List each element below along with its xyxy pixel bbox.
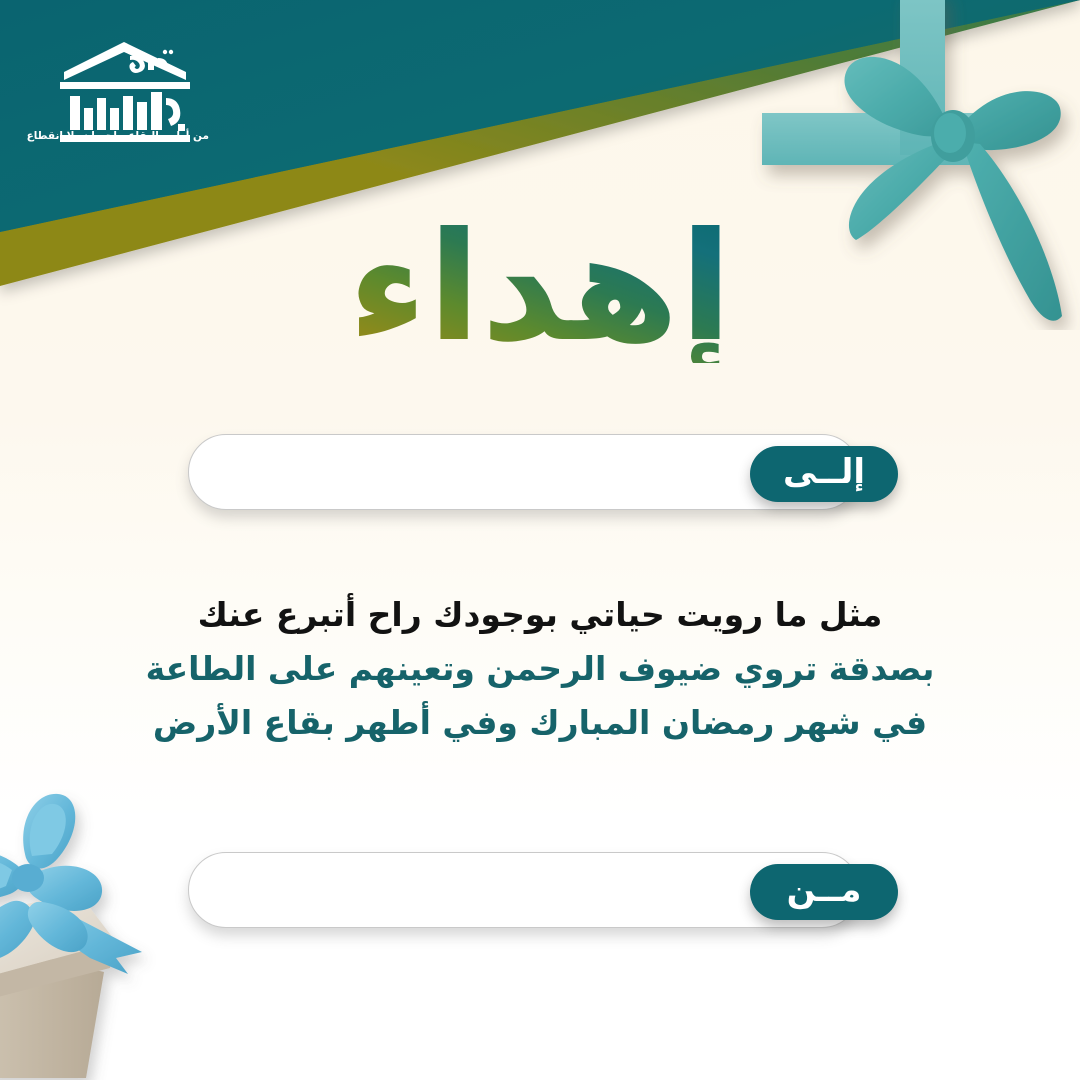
dedication-card: من أطهر البقاع ، إحسان بلا انقطاع	[0, 0, 1080, 1080]
brand-tagline: من أطهر البقاع ، إحسان بلا انقطاع	[44, 130, 209, 142]
recipient-field-row: إلــى	[188, 428, 898, 514]
sender-label: مــن	[787, 873, 862, 911]
sender-input[interactable]	[213, 867, 773, 927]
message-line-3: في شهر رمضان المبارك وفي أطهر بقاع الأرض	[0, 696, 1080, 750]
recipient-input[interactable]	[213, 449, 773, 509]
message-line-1: مثل ما رويت حياتي بوجودك راح أتبرع عنك	[0, 588, 1080, 642]
sender-field-row: مــن	[188, 846, 898, 932]
page-title-wrapper: إهداء	[0, 178, 1080, 398]
recipient-label-pill: إلــى	[750, 446, 898, 502]
recipient-label: إلــى	[783, 455, 865, 493]
dedication-message: مثل ما رويت حياتي بوجودك راح أتبرع عنك ب…	[0, 588, 1080, 750]
sender-label-pill: مــن	[750, 864, 898, 920]
page-title: إهداء	[337, 213, 743, 363]
message-line-2: بصدقة تروي ضيوف الرحمن وتعينهم على الطاع…	[0, 642, 1080, 696]
